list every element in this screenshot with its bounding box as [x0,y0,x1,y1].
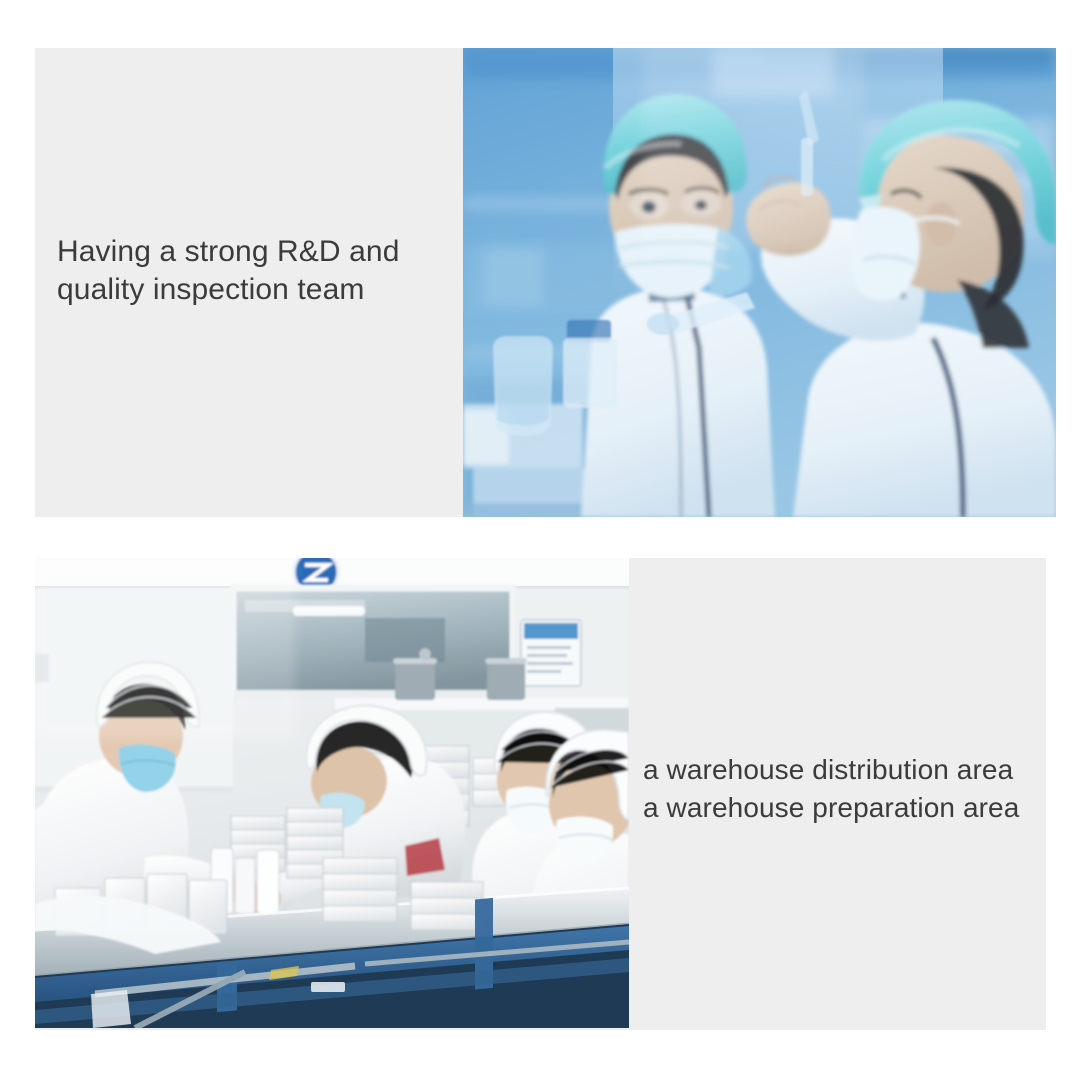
rd-quality-inspection-lab-photo [463,48,1056,517]
bottom-section-caption: a warehouse distribution area a warehous… [643,751,1043,826]
lab-photo-graphic [463,48,1056,517]
warehouse-packing-area-photo [35,558,629,1028]
top-section-panel: Having a strong R&D and quality inspecti… [35,48,1056,517]
top-section-caption: Having a strong R&D and quality inspecti… [57,233,457,310]
warehouse-photo-graphic [35,558,629,1028]
bottom-section-panel: a warehouse distribution area a warehous… [35,558,1046,1030]
